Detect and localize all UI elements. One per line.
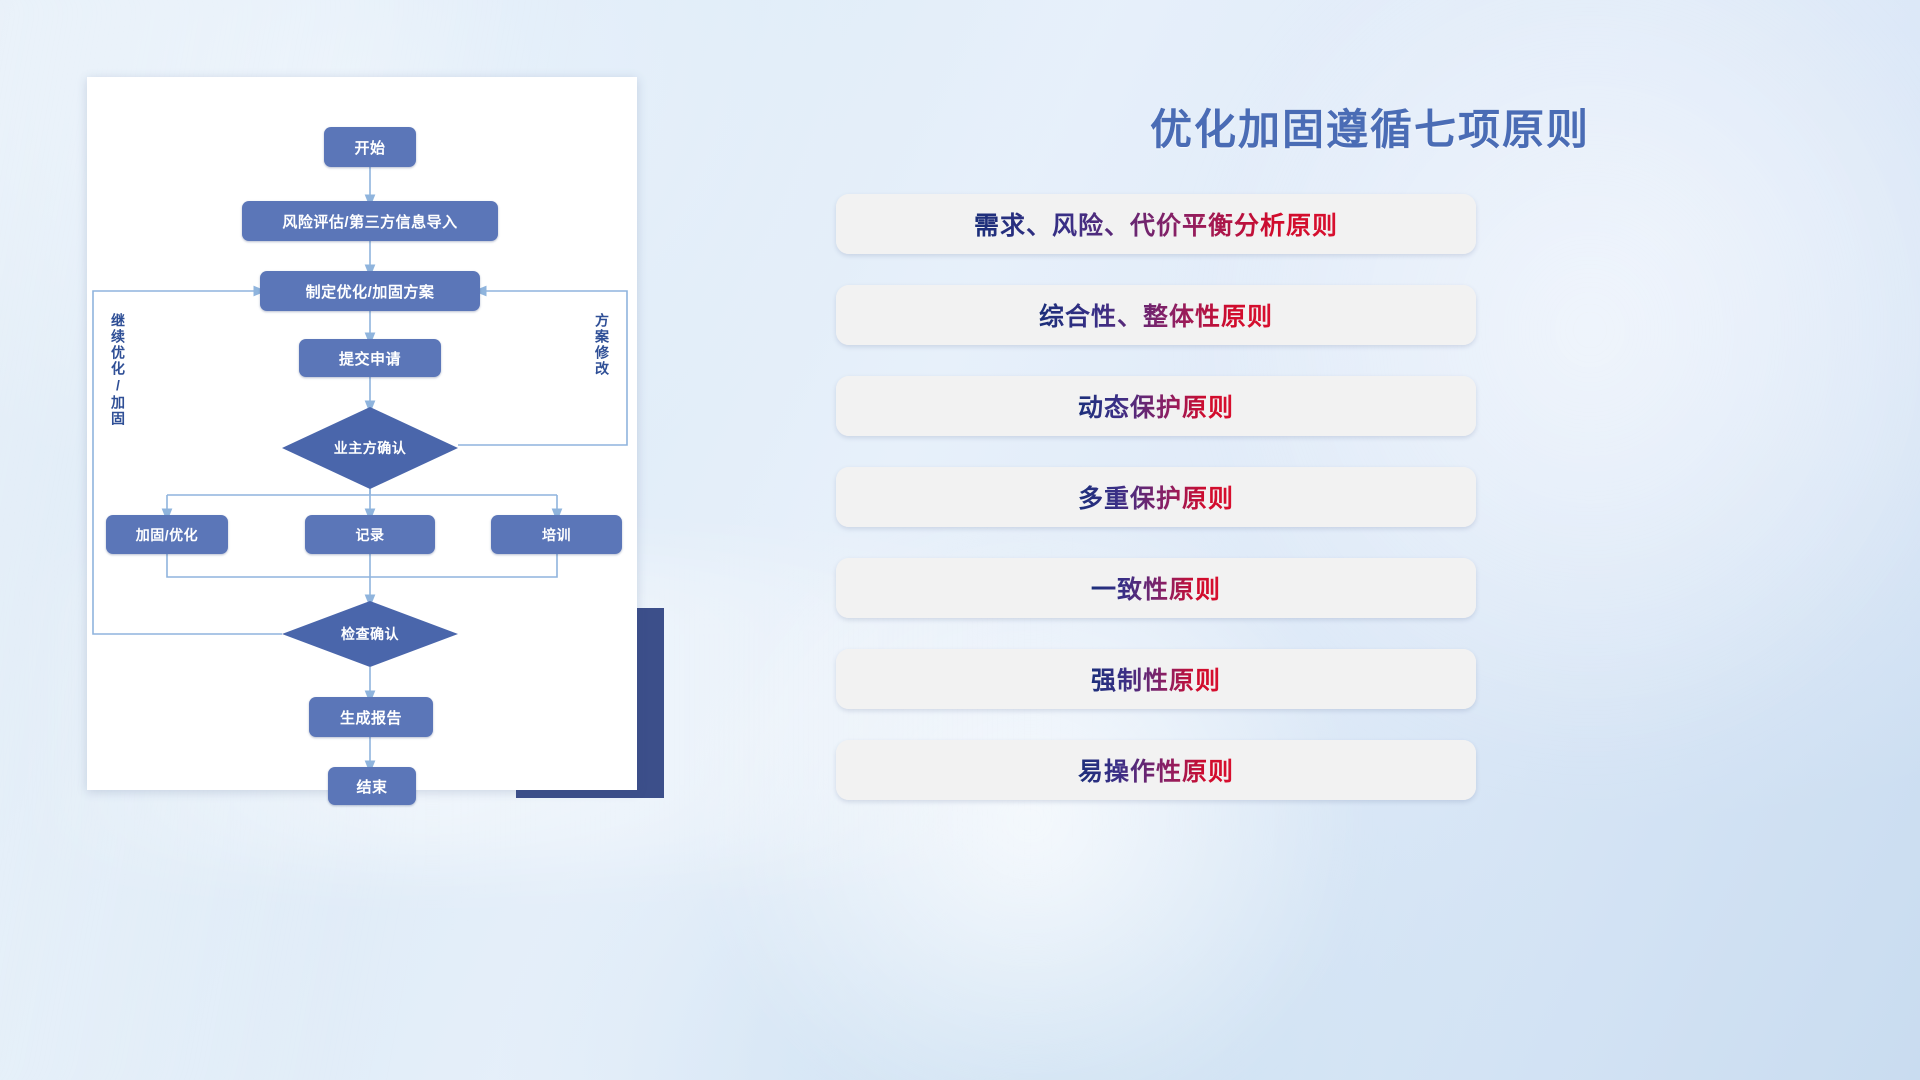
flow-node-report[interactable]: 生成报告 — [309, 697, 433, 737]
flow-edge-label-left-loop: 继续优化/加固 — [111, 313, 125, 427]
flow-node-risk-assessment[interactable]: 风险评估/第三方信息导入 — [242, 201, 498, 241]
diamond-shape — [282, 601, 458, 667]
principle-item-1[interactable]: 需求、风险、代价平衡分析原则 — [836, 194, 1476, 254]
principle-item-label: 强制性原则 — [1091, 661, 1221, 697]
principle-item-label: 易操作性原则 — [1078, 752, 1234, 788]
principle-item-label: 动态保护原则 — [1078, 388, 1234, 424]
slide-canvas: 开始 风险评估/第三方信息导入 制定优化/加固方案 提交申请 业主方确认 加固/… — [0, 0, 1920, 1080]
principle-item-6[interactable]: 强制性原则 — [836, 649, 1476, 709]
flow-node-reinforce[interactable]: 加固/优化 — [106, 515, 228, 554]
principle-item-5[interactable]: 一致性原则 — [836, 558, 1476, 618]
principle-item-3[interactable]: 动态保护原则 — [836, 376, 1476, 436]
principle-item-label: 综合性、整体性原则 — [1039, 297, 1273, 333]
flow-node-owner-confirm[interactable]: 业主方确认 — [282, 407, 458, 489]
principle-item-label: 需求、风险、代价平衡分析原则 — [974, 206, 1338, 242]
flow-node-submit[interactable]: 提交申请 — [299, 339, 441, 377]
flow-node-training[interactable]: 培训 — [491, 515, 622, 554]
principles-list: 需求、风险、代价平衡分析原则 综合性、整体性原则 动态保护原则 多重保护原则 一… — [836, 194, 1476, 831]
principle-item-7[interactable]: 易操作性原则 — [836, 740, 1476, 800]
flow-edge-label-right-loop: 方案修改 — [595, 313, 609, 377]
principle-item-2[interactable]: 综合性、整体性原则 — [836, 285, 1476, 345]
flow-node-check-confirm[interactable]: 检查确认 — [282, 601, 458, 667]
principles-panel-title: 优化加固遵循七项原则 — [1150, 96, 1590, 157]
principle-item-4[interactable]: 多重保护原则 — [836, 467, 1476, 527]
flowchart-card: 开始 风险评估/第三方信息导入 制定优化/加固方案 提交申请 业主方确认 加固/… — [87, 77, 637, 790]
principle-item-label: 一致性原则 — [1091, 570, 1221, 606]
diamond-shape — [282, 407, 458, 489]
flow-node-end[interactable]: 结束 — [328, 767, 416, 805]
flow-node-record[interactable]: 记录 — [305, 515, 435, 554]
principle-item-label: 多重保护原则 — [1078, 479, 1234, 515]
flow-node-plan[interactable]: 制定优化/加固方案 — [260, 271, 480, 311]
flow-node-start[interactable]: 开始 — [324, 127, 416, 167]
